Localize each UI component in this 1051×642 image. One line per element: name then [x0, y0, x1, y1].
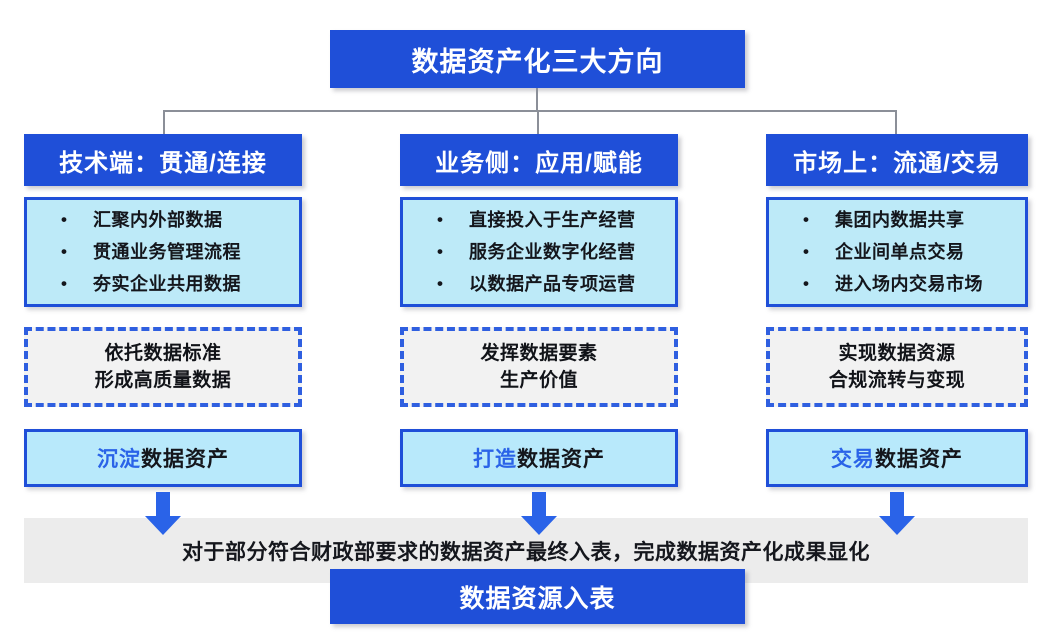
outcome-box-market: 实现数据资源 合规流转与变现: [766, 327, 1028, 407]
bullet-dot-icon: •: [61, 237, 79, 267]
bullet-label: 汇聚内外部数据: [79, 205, 223, 235]
bullet-box-market: • 集团内数据共享 • 企业间单点交易 • 进入场内交易市场: [766, 197, 1028, 307]
list-item: • 企业间单点交易: [803, 237, 1025, 267]
column-header-market: 市场上：流通/交易: [766, 134, 1028, 186]
outcome-line-2: 形成高质量数据: [95, 367, 232, 394]
summary-band-text: 对于部分符合财政部要求的数据资产最终入表，完成数据资产化成果显化: [182, 536, 870, 566]
bullet-dot-icon: •: [437, 269, 455, 299]
result-rest: 数据资产: [517, 443, 605, 473]
connector-branch-left: [163, 110, 165, 135]
bullet-label: 直接投入于生产经营: [455, 205, 636, 235]
result-box-technology: 沉淀数据资产: [24, 429, 302, 487]
bullet-box-technology: • 汇聚内外部数据 • 贯通业务管理流程 • 夯实企业共用数据: [24, 197, 302, 307]
result-accent: 沉淀: [97, 443, 141, 473]
list-item: • 以数据产品专项运营: [437, 269, 675, 299]
down-arrow-icon: [878, 492, 916, 536]
list-item: • 服务企业数字化经营: [437, 237, 675, 267]
result-accent: 打造: [473, 443, 517, 473]
footer-box: 数据资源入表: [330, 569, 745, 624]
outcome-line-1: 实现数据资源: [838, 340, 955, 367]
connector-branch-right: [895, 110, 897, 135]
bullet-dot-icon: •: [61, 205, 79, 235]
bullet-dot-icon: •: [803, 205, 821, 235]
outcome-line-1: 发挥数据要素: [480, 340, 597, 367]
connector-branch-center: [537, 110, 539, 135]
down-arrow-icon: [144, 492, 182, 536]
bullet-label: 服务企业数字化经营: [455, 237, 636, 267]
outcome-box-technology: 依托数据标准 形成高质量数据: [24, 327, 302, 407]
list-item: • 夯实企业共用数据: [61, 269, 299, 299]
outcome-line-2: 合规流转与变现: [829, 367, 966, 394]
bullet-dot-icon: •: [61, 269, 79, 299]
outcome-box-business: 发挥数据要素 生产价值: [400, 327, 678, 407]
list-item: • 进入场内交易市场: [803, 269, 1025, 299]
result-box-business: 打造数据资产: [400, 429, 678, 487]
bullet-dot-icon: •: [437, 237, 455, 267]
result-rest: 数据资产: [141, 443, 229, 473]
bullet-label: 集团内数据共享: [821, 205, 965, 235]
column-header-business: 业务侧：应用/赋能: [400, 134, 678, 186]
connector-trunk-horizontal: [163, 110, 897, 112]
bullet-label: 贯通业务管理流程: [79, 237, 241, 267]
result-box-market: 交易数据资产: [766, 429, 1028, 487]
bullet-label: 夯实企业共用数据: [79, 269, 241, 299]
diagram-canvas: 数据资产化三大方向 技术端：贯通/连接 业务侧：应用/赋能 市场上：流通/交易 …: [0, 0, 1051, 642]
list-item: • 直接投入于生产经营: [437, 205, 675, 235]
connector-trunk-vertical: [536, 88, 538, 111]
bullet-label: 进入场内交易市场: [821, 269, 983, 299]
bullet-box-business: • 直接投入于生产经营 • 服务企业数字化经营 • 以数据产品专项运营: [400, 197, 678, 307]
bullet-dot-icon: •: [803, 269, 821, 299]
list-item: • 汇聚内外部数据: [61, 205, 299, 235]
bullet-label: 以数据产品专项运营: [455, 269, 636, 299]
result-rest: 数据资产: [875, 443, 963, 473]
down-arrow-icon: [520, 492, 558, 536]
list-item: • 集团内数据共享: [803, 205, 1025, 235]
bullet-label: 企业间单点交易: [821, 237, 965, 267]
result-accent: 交易: [831, 443, 875, 473]
column-header-technology: 技术端：贯通/连接: [24, 134, 302, 186]
bullet-dot-icon: •: [803, 237, 821, 267]
outcome-line-1: 依托数据标准: [104, 340, 221, 367]
outcome-line-2: 生产价值: [500, 367, 578, 394]
diagram-title: 数据资产化三大方向: [330, 30, 745, 88]
bullet-dot-icon: •: [437, 205, 455, 235]
list-item: • 贯通业务管理流程: [61, 237, 299, 267]
